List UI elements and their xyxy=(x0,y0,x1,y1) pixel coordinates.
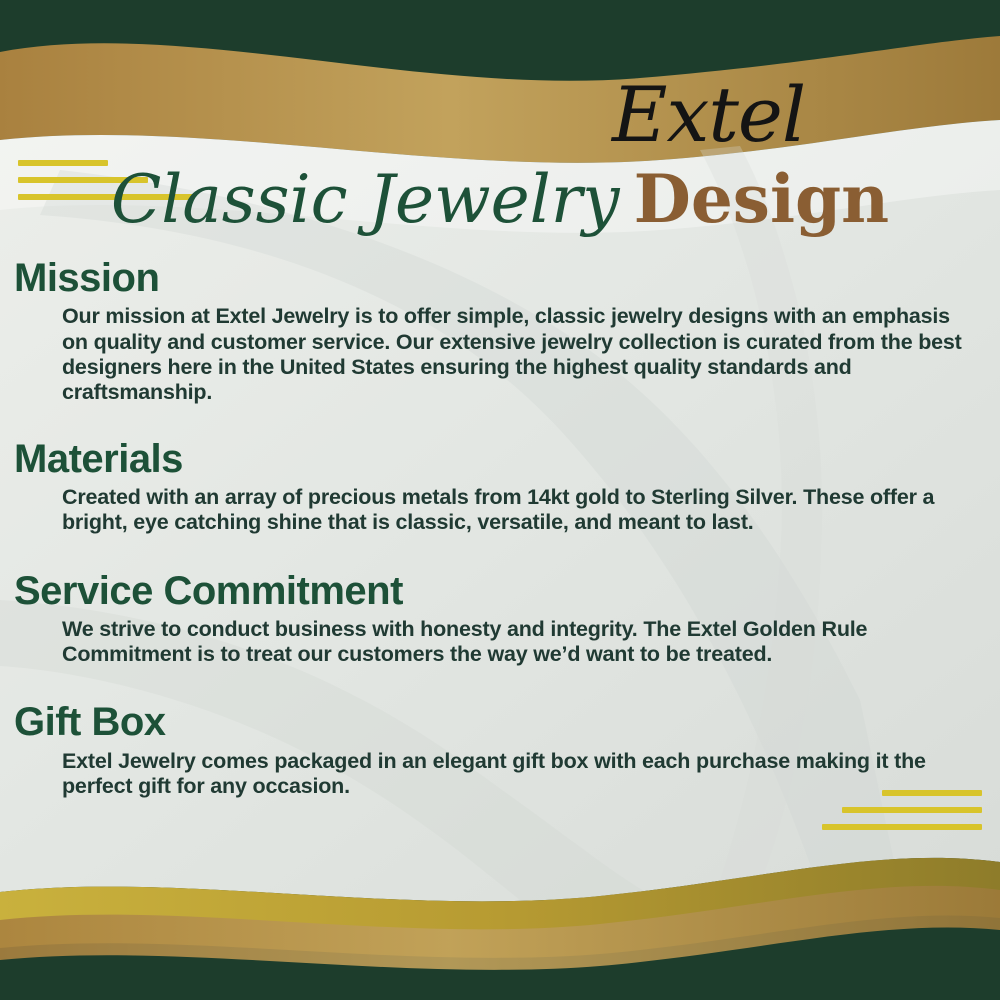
brand-wordmark: Extel xyxy=(612,70,852,160)
section-mission: Mission Our mission at Extel Jewelry is … xyxy=(0,255,1000,406)
section-body-materials: Created with an array of precious metals… xyxy=(62,485,966,536)
section-body-mission: Our mission at Extel Jewelry is to offer… xyxy=(62,304,966,405)
poster-canvas: Extel Classic JewelryDesign Mission Our … xyxy=(0,0,1000,1000)
title-accent-text: Design xyxy=(634,160,890,238)
section-gift-box: Gift Box Extel Jewelry comes packaged in… xyxy=(0,699,1000,799)
section-materials: Materials Created with an array of preci… xyxy=(0,436,1000,536)
section-heading-gift-box: Gift Box xyxy=(14,699,1000,746)
section-heading-mission: Mission xyxy=(14,255,1000,302)
sections-container: Mission Our mission at Extel Jewelry is … xyxy=(0,255,1000,809)
section-body-service-commitment: We strive to conduct business with hones… xyxy=(62,617,966,668)
title-main-text: Classic Jewelry xyxy=(111,161,620,238)
section-service-commitment: Service Commitment We strive to conduct … xyxy=(0,568,1000,668)
poster-content: Extel Classic JewelryDesign Mission Our … xyxy=(0,0,1000,1000)
decorative-lines-right xyxy=(822,790,982,841)
page-title: Classic JewelryDesign xyxy=(0,160,1000,246)
section-heading-service-commitment: Service Commitment xyxy=(14,568,1000,615)
section-heading-materials: Materials xyxy=(14,436,1000,483)
